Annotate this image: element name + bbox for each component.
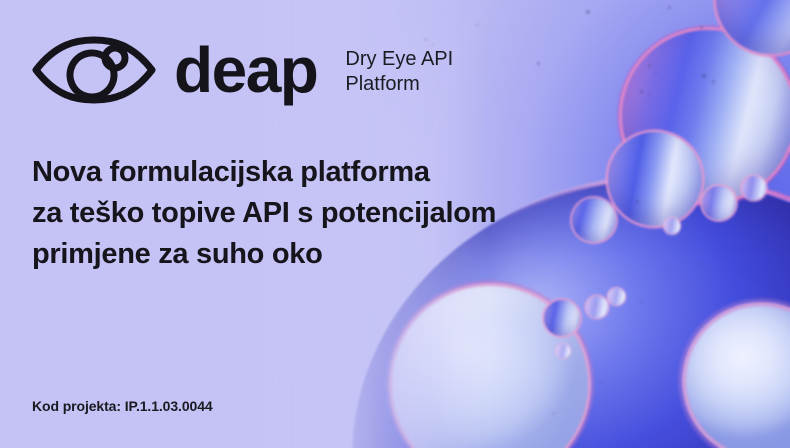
banner-content: deap Dry Eye API Platform Nova formulaci…	[0, 0, 790, 448]
brand-subtitle: Dry Eye API Platform	[345, 47, 453, 97]
project-code-label: Kod projekta: IP.1.1.03.0044	[32, 398, 213, 414]
brand-lockup: deap Dry Eye API Platform	[32, 34, 453, 106]
headline-text: Nova formulacijska platforma za teško to…	[32, 152, 496, 276]
eye-droplet-icon	[32, 34, 156, 106]
brand-wordmark: deap	[174, 42, 317, 100]
promo-banner: deap Dry Eye API Platform Nova formulaci…	[0, 0, 790, 448]
